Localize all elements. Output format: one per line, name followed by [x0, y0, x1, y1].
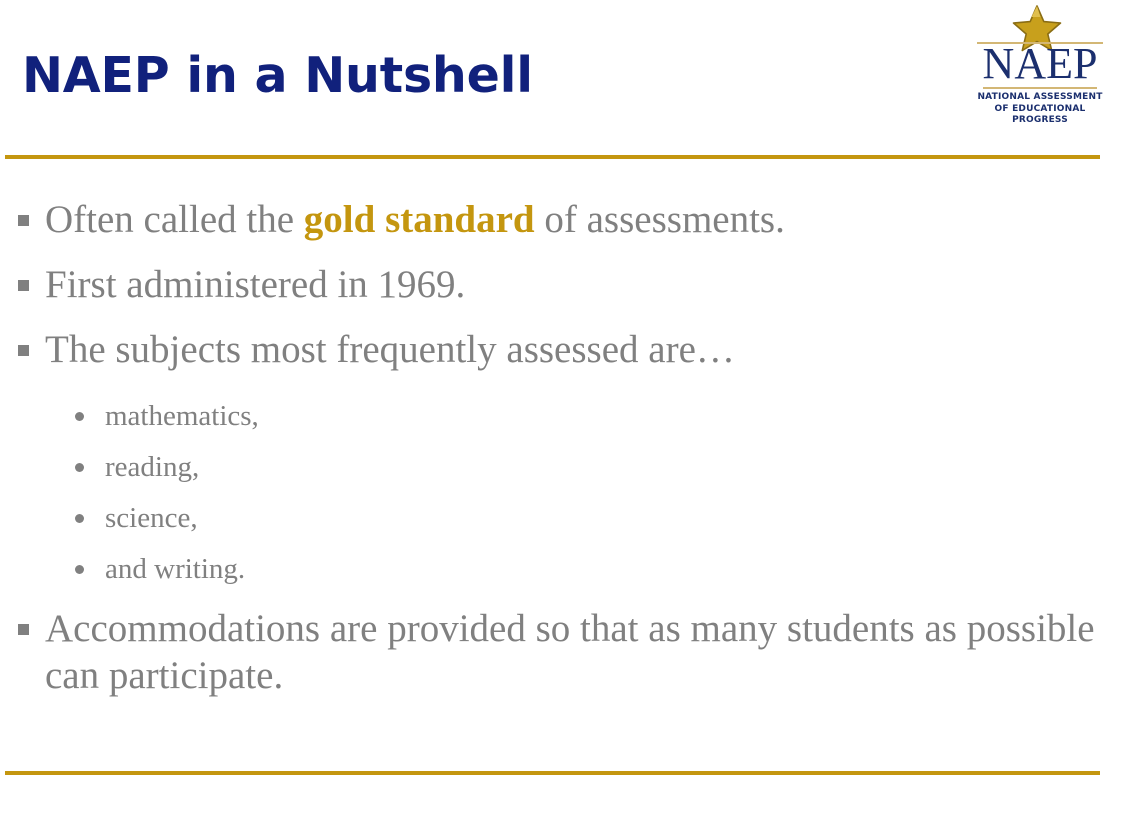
bullet-text: First administered in 1969. [45, 263, 465, 306]
sub-bullet-text: science, [105, 502, 198, 534]
sub-bullet-text: mathematics, [105, 400, 259, 432]
page-title: NAEP in a Nutshell [22, 50, 533, 101]
divider-top [5, 155, 1100, 159]
square-bullet-icon [18, 280, 29, 291]
slide: NAEP in a Nutshell NAEP NATIONAL ASSESSM… [0, 0, 1124, 840]
bullet-item: Accommodations are provided so that as m… [0, 605, 1110, 699]
bullet-list: Often called the gold standard of assess… [0, 196, 1110, 717]
round-bullet-icon [75, 514, 84, 523]
square-bullet-icon [18, 345, 29, 356]
logo-rule-lower [983, 87, 1097, 89]
bullet-text-emphasis: gold standard [304, 198, 535, 241]
sub-bullet-text: and writing. [105, 553, 245, 585]
round-bullet-icon [75, 565, 84, 574]
square-bullet-icon [18, 215, 29, 226]
round-bullet-icon [75, 412, 84, 421]
sub-bullet-text: reading, [105, 451, 199, 483]
logo-wordmark: NAEP [975, 40, 1105, 88]
bullet-text: Accommodations are provided so that as m… [45, 607, 1095, 697]
bullet-text: The subjects most frequently assessed ar… [45, 328, 735, 371]
naep-logo: NAEP NATIONAL ASSESSMENT OF EDUCATIONAL … [975, 4, 1105, 122]
sub-bullet-list: mathematics, reading, science, and writi… [0, 391, 1110, 595]
bullet-item: First administered in 1969. [0, 261, 1110, 308]
sub-bullet-item: and writing. [0, 544, 1110, 595]
logo-subtitle-line-3: PROGRESS [975, 115, 1105, 127]
round-bullet-icon [75, 463, 84, 472]
square-bullet-icon [18, 624, 29, 635]
logo-subtitle-line-1: NATIONAL ASSESSMENT [975, 92, 1105, 104]
logo-subtitle: NATIONAL ASSESSMENT OF EDUCATIONAL PROGR… [975, 92, 1105, 127]
bullet-text-pre: Often called the [45, 198, 304, 241]
divider-bottom [5, 771, 1100, 775]
sub-bullet-item: science, [0, 493, 1110, 544]
bullet-text-post: of assessments. [535, 198, 785, 241]
bullet-item: Often called the gold standard of assess… [0, 196, 1110, 243]
sub-bullet-item: reading, [0, 442, 1110, 493]
bullet-item: The subjects most frequently assessed ar… [0, 326, 1110, 373]
logo-subtitle-line-2: OF EDUCATIONAL [975, 104, 1105, 116]
sub-bullet-item: mathematics, [0, 391, 1110, 442]
